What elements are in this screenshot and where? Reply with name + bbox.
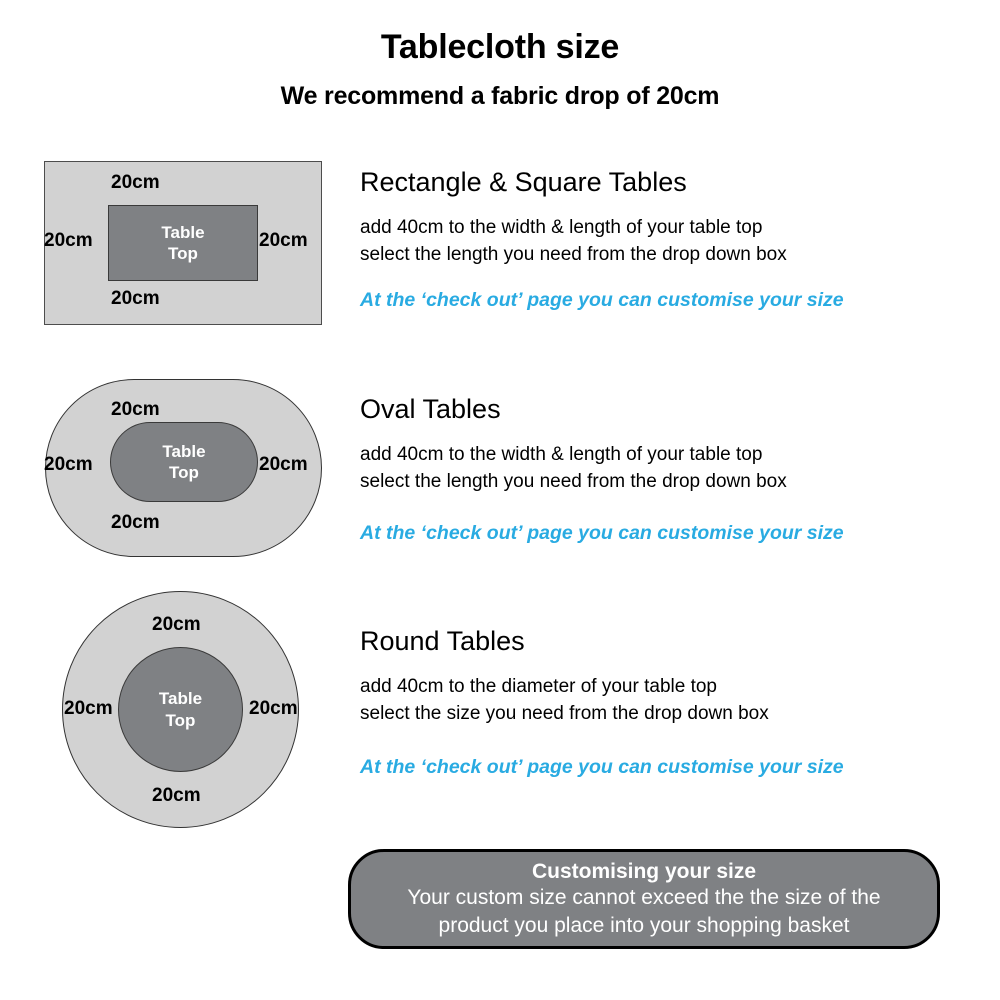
rectangle-drop-label-left: 20cm: [44, 231, 93, 250]
customising-line-1: Your custom size cannot exceed the the s…: [407, 884, 880, 912]
table-top-line-1: Table: [162, 442, 205, 461]
round-text-block: Round Tables add 40cm to the diameter of…: [360, 627, 980, 728]
round-table-top-label: Table Top: [159, 688, 202, 731]
oval-drop-label-top: 20cm: [111, 400, 160, 419]
round-drop-label-bottom: 20cm: [152, 786, 201, 805]
oval-instruction-line-1: add 40cm to the width & length of your t…: [360, 441, 980, 469]
oval-instruction-line-2: select the length you need from the drop…: [360, 468, 980, 496]
rectangle-drop-label-top: 20cm: [111, 173, 160, 192]
rectangle-instruction-line-1: add 40cm to the width & length of your t…: [360, 214, 980, 242]
page-subtitle: We recommend a fabric drop of 20cm: [0, 82, 1000, 111]
oval-heading: Oval Tables: [360, 395, 980, 425]
oval-text-block: Oval Tables add 40cm to the width & leng…: [360, 395, 980, 496]
oval-checkout-note: At the ‘check out’ page you can customis…: [360, 521, 844, 546]
round-instruction-line-2: select the size you need from the drop d…: [360, 700, 980, 728]
table-top-line-2: Top: [166, 711, 196, 730]
page-title: Tablecloth size: [0, 28, 1000, 67]
round-heading: Round Tables: [360, 627, 980, 657]
rectangle-checkout-note: At the ‘check out’ page you can customis…: [360, 288, 844, 313]
round-table-top: Table Top: [118, 647, 243, 772]
round-checkout-note: At the ‘check out’ page you can customis…: [360, 755, 844, 780]
table-top-line-2: Top: [169, 463, 199, 482]
table-top-line-1: Table: [159, 689, 202, 708]
oval-drop-label-bottom: 20cm: [111, 513, 160, 532]
oval-table-top-label: Table Top: [162, 441, 205, 484]
customising-line-2: product you place into your shopping bas…: [439, 912, 850, 940]
rectangle-text-block: Rectangle & Square Tables add 40cm to th…: [360, 168, 980, 269]
rectangle-instruction-line-2: select the length you need from the drop…: [360, 241, 980, 269]
table-top-line-1: Table: [161, 223, 204, 242]
rectangle-table-top: Table Top: [108, 205, 258, 281]
oval-table-top: Table Top: [110, 422, 258, 502]
oval-drop-label-right: 20cm: [259, 455, 308, 474]
rectangle-table-top-label: Table Top: [161, 222, 204, 265]
table-top-line-2: Top: [168, 244, 198, 263]
oval-drop-label-left: 20cm: [44, 455, 93, 474]
rectangle-heading: Rectangle & Square Tables: [360, 168, 980, 198]
round-drop-label-top: 20cm: [152, 615, 201, 634]
round-drop-label-right: 20cm: [249, 699, 298, 718]
round-instruction-line-1: add 40cm to the diameter of your table t…: [360, 673, 980, 701]
rectangle-drop-label-right: 20cm: [259, 231, 308, 250]
customising-your-size-box: Customising your size Your custom size c…: [348, 849, 940, 949]
round-drop-label-left: 20cm: [64, 699, 113, 718]
rectangle-drop-label-bottom: 20cm: [111, 289, 160, 308]
customising-heading: Customising your size: [532, 859, 756, 884]
